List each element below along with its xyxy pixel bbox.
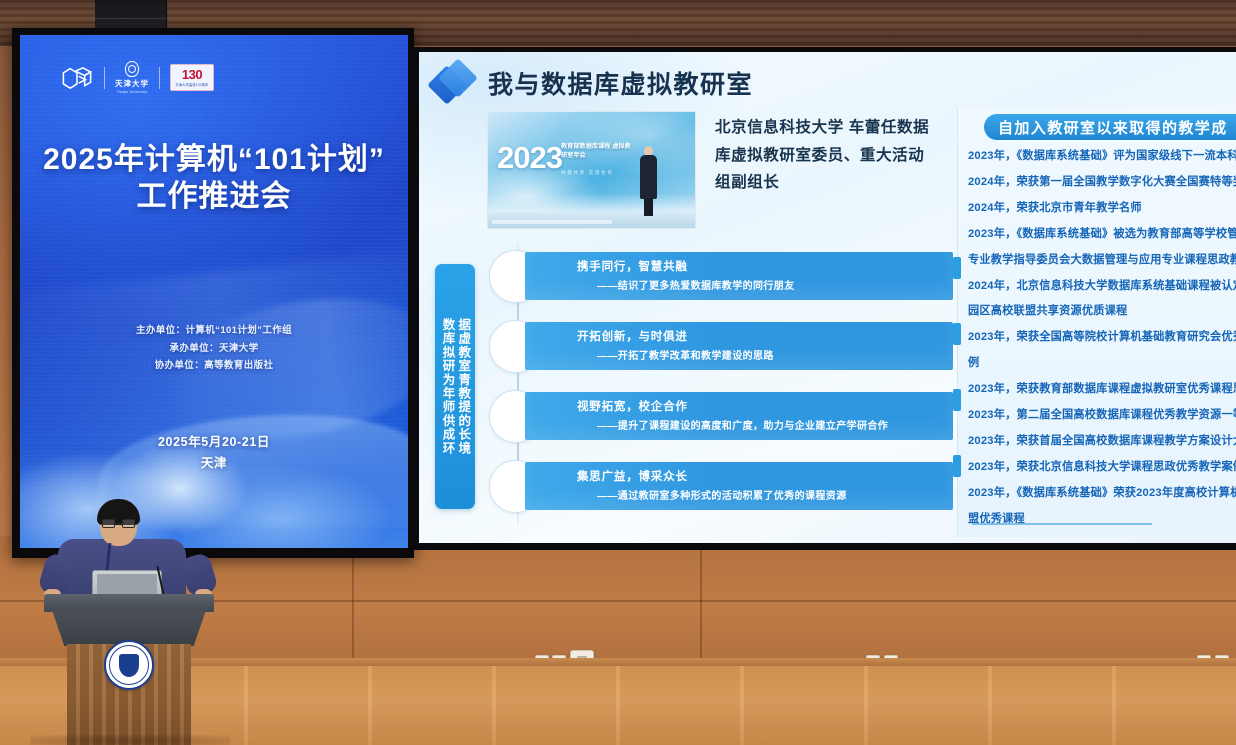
slide-title: 我与数据库虚拟教研室 (488, 65, 753, 101)
organizer-coorganizer: 协办单位：高等教育出版社 (20, 357, 408, 375)
conference-hall-scene: 天津大学 Tianjin University 130 天津大学建校130周年 … (0, 0, 1236, 745)
achievement-item: 专业教学指导委员会大数据管理与应用专业课程思政教学 (968, 253, 1236, 269)
achievement-item: 2023年，荣获北京信息科技大学课程思政优秀教学案例 (968, 460, 1236, 476)
tju-name-en: Tianjin University (116, 90, 147, 94)
podium-surface (44, 594, 214, 612)
left-display-screen[interactable]: 天津大学 Tianjin University 130 天津大学建校130周年 … (12, 28, 414, 558)
conference-photo: 2023 教育部数据库课程 虚拟教研室年会 共建共享 交流合作 (487, 111, 696, 229)
slide-lead-text: 北京信息科技大学 车蕾任数据库虚拟教研室委员、重大活动组副组长 (715, 114, 935, 197)
timeline-list: 携手同行，智慧共融 ——结识了更多热爱数据库教学的同行朋友 开拓创新，与时俱进 … (483, 248, 953, 520)
logo-divider (104, 67, 105, 89)
banner-title-line1: 2025年计算机“101计划” (43, 143, 385, 176)
anniversary-130-badge: 130 天津大学建校130周年 (170, 64, 214, 91)
photo-person (639, 146, 659, 216)
organizer-undertaker: 承办单位：天津大学 (20, 340, 408, 358)
achievement-item: 2023年，《数据库系统基础》被选为教育部高等学校管 (968, 227, 1236, 243)
achievements-list: 2023年，《数据库系统基础》评为国家级线下一流本科课 2024年，荣获第一届全… (968, 149, 1236, 538)
glasses-icon (102, 519, 135, 528)
achievement-item: 2023年，《数据库系统基础》评为国家级线下一流本科课 (968, 149, 1236, 165)
timeline-item: 集思广益，博采众长 ——通过教研室多种形式的活动积累了优秀的课程资源 (483, 458, 953, 514)
achievements-panel: 自加入教研室以来取得的教学成 2023年，《数据库系统基础》评为国家级线下一流本… (957, 107, 1236, 537)
achievement-item: 2024年，荣获北京市青年教学名师 (968, 201, 1236, 217)
tju-crest-icon (125, 61, 139, 77)
achievements-header: 自加入教研室以来取得的教学成 (984, 114, 1236, 140)
timeline-item: 视野拓宽，校企合作 ——提升了课程建设的高度和广度，助力与企业建立产学研合作 (483, 388, 953, 444)
banner-title-line2: 工作推进会 (20, 179, 408, 216)
photo-year: 2023 (497, 140, 562, 176)
anniversary-sub: 天津大学建校130周年 (175, 82, 208, 87)
achievement-item: 园区高校联盟共享资源优质课程 (968, 304, 1236, 320)
presentation-slide: 我与数据库虚拟教研室 2023 教育部数据库课程 虚拟教研室年会 共建共享 交流… (419, 52, 1236, 543)
timeline-bar: 开拓创新，与时俱进 ——开拓了教学改革和教学建设的思路 (525, 322, 953, 370)
timeline-heading: 开拓创新，与时俱进 (577, 328, 688, 344)
achievement-item: 盟优秀课程 (968, 512, 1236, 528)
banner-date: 2025年5月20-21日 (20, 432, 408, 453)
tianjin-university-logo: 天津大学 Tianjin University (115, 61, 149, 94)
achievement-item: 例 (968, 356, 1236, 372)
photo-subline: 共建共享 交流合作 (561, 170, 613, 176)
logo-divider (159, 67, 160, 89)
tju-name-cn: 天津大学 (115, 78, 149, 89)
banner-logo-row: 天津大学 Tianjin University 130 天津大学建校130周年 (60, 61, 214, 94)
plan101-cube-icon (60, 65, 94, 91)
banner-organizers: 主办单位：计算机“101计划”工作组 承办单位：天津大学 协办单位：高等教育出版… (20, 322, 408, 375)
slide-header: 我与数据库虚拟教研室 (431, 62, 753, 104)
achievement-item: 2023年，《数据库系统基础》荣获2023年度高校计算机 (968, 486, 1236, 502)
timeline-bar: 视野拓宽，校企合作 ——提升了课程建设的高度和广度，助力与企业建立产学研合作 (525, 392, 953, 440)
tju-emblem-icon (104, 640, 154, 690)
timeline-heading: 视野拓宽，校企合作 (577, 398, 688, 414)
banner-city: 天津 (20, 453, 408, 474)
timeline-detail: ——结识了更多热爱数据库教学的同行朋友 (597, 277, 795, 292)
timeline-detail: ——开拓了教学改革和教学建设的思路 (597, 347, 774, 362)
achievements-underline (972, 523, 1152, 525)
vertical-section-label: 数库拟研为年师供成环 据虚教室青教提的长境 (435, 264, 475, 509)
achievement-item: 2024年，北京信息科技大学数据库系统基础课程被认定 (968, 279, 1236, 295)
timeline-detail: ——提升了课程建设的高度和广度，助力与企业建立产学研合作 (597, 417, 888, 432)
photo-headline: 教育部数据库课程 虚拟教研室年会 (561, 142, 633, 161)
timeline-heading: 集思广益，博采众长 (577, 468, 688, 484)
anniversary-number: 130 (182, 68, 202, 81)
timeline-item: 开拓创新，与时俱进 ——开拓了教学改革和教学建设的思路 (483, 318, 953, 374)
vertical-label-col2: 据虚教室青教提的长境 (456, 318, 471, 455)
podium-shadow (30, 735, 230, 745)
vertical-label-col1: 数库拟研为年师供成环 (440, 318, 455, 455)
conference-banner: 天津大学 Tianjin University 130 天津大学建校130周年 … (20, 35, 408, 548)
achievement-side-tabs (953, 257, 961, 521)
achievement-item: 2023年，荣获教育部数据库课程虚拟教研室优秀课程思政 (968, 382, 1236, 398)
achievement-item: 2023年，荣获全国高等院校计算机基础教育研究会优秀 (968, 330, 1236, 346)
podium (44, 594, 214, 745)
right-projection-screen[interactable]: 我与数据库虚拟教研室 2023 教育部数据库课程 虚拟教研室年会 共建共享 交流… (414, 47, 1236, 550)
achievement-item: 2023年，第二届全国高校数据库课程优秀教学资源一等奖 (968, 408, 1236, 424)
timeline-item: 携手同行，智慧共融 ——结识了更多热爱数据库教学的同行朋友 (483, 248, 953, 304)
timeline-bar: 携手同行，智慧共融 ——结识了更多热爱数据库教学的同行朋友 (525, 252, 953, 300)
diamond-icon (431, 62, 477, 104)
timeline-bar: 集思广益，博采众长 ——通过教研室多种形式的活动积累了优秀的课程资源 (525, 462, 953, 510)
banner-title: 2025年计算机“101计划” 工作推进会 (20, 142, 408, 215)
timeline-heading: 携手同行，智慧共融 (577, 258, 688, 274)
organizer-host: 主办单位：计算机“101计划”工作组 (20, 322, 408, 340)
achievement-item: 2023年，荣获首届全国高校数据库课程教学方案设计大赛 (968, 434, 1236, 450)
timeline-detail: ——通过教研室多种形式的活动积累了优秀的课程资源 (597, 487, 847, 502)
banner-date-location: 2025年5月20-21日 天津 (20, 432, 408, 475)
achievement-item: 2024年，荣获第一届全国教学数字化大赛全国赛特等奖 (968, 175, 1236, 191)
